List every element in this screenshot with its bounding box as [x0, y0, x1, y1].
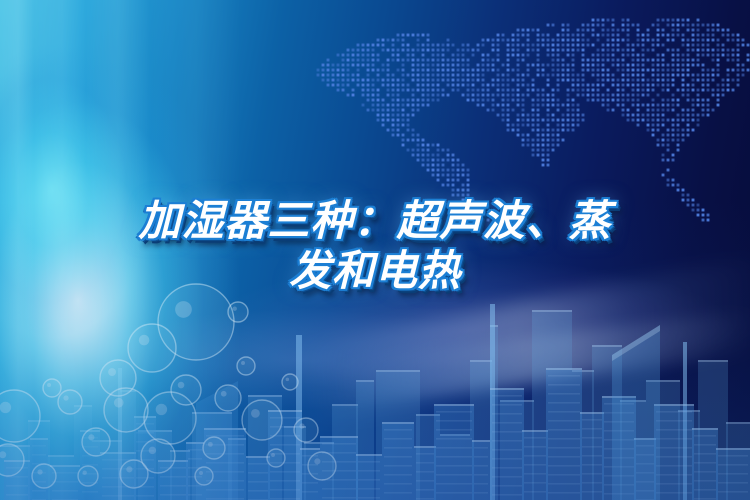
banner-image: 加湿器三种：超声波、蒸 发和电热 — [0, 0, 750, 500]
bottom-wash — [0, 0, 750, 500]
